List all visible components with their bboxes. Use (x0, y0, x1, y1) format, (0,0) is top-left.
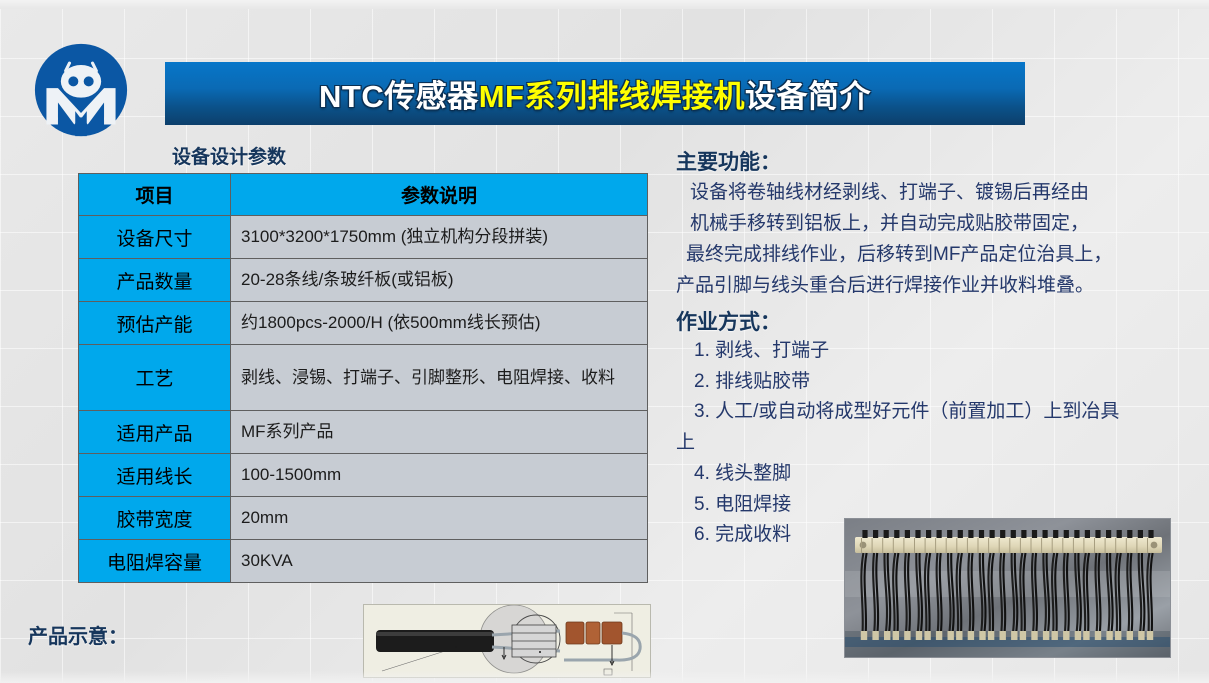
row-value: 100-1500mm (231, 454, 648, 497)
workflow-step: 1. 剥线、打端子 (676, 336, 1201, 367)
row-value: 30KVA (231, 540, 648, 583)
table-header-item: 项目 (79, 174, 231, 216)
row-value: 约1800pcs-2000/H (依500mm线长预估) (231, 302, 648, 345)
title-part-1: NTC传感器 (319, 79, 479, 114)
table-row: 适用线长 100-1500mm (79, 454, 648, 497)
row-key: 适用线长 (79, 454, 231, 497)
table-row: 胶带宽度 20mm (79, 497, 648, 540)
main-functions-title: 主要功能： (676, 146, 1201, 176)
table-row: 产品数量 20-28条线/条玻纤板(或铝板) (79, 259, 648, 302)
table-row: 适用产品 MF系列产品 (79, 411, 648, 454)
table-row: 工艺 剥线、浸锡、打端子、引脚整形、电阻焊接、收料 (79, 345, 648, 411)
table-row: 设备尺寸 3100*3200*1750mm (独立机构分段拼装) (79, 216, 648, 259)
row-value: 20-28条线/条玻纤板(或铝板) (231, 259, 648, 302)
table-header-row: 项目 参数说明 (79, 174, 648, 216)
workflow-step: 3. 人工/或自动将成型好元件（前置加工）上到冶具 (676, 397, 1201, 428)
table-row: 电阻焊容量 30KVA (79, 540, 648, 583)
robot-m-icon (33, 42, 129, 138)
workflow-step-continuation: 上 (676, 428, 1201, 459)
product-illustration-label: 产品示意： (28, 620, 128, 649)
workflow-step: 2. 排线贴胶带 (676, 367, 1201, 398)
row-value: 剥线、浸锡、打端子、引脚整形、电阻焊接、收料 (231, 345, 648, 411)
slide-canvas: NTC传感器MF系列排线焊接机设备简介 设备设计参数 项目 参数说明 设备尺寸 … (0, 0, 1209, 683)
row-value: 20mm (231, 497, 648, 540)
cad-drawing-graphic (364, 605, 651, 678)
row-key: 设备尺寸 (79, 216, 231, 259)
right-description-column: 主要功能： 设备将卷轴线材经剥线、打端子、镀锡后再经由 机械手移转到铝板上，并自… (676, 146, 1201, 551)
table-row: 预估产能 约1800pcs-2000/H (依500mm线长预估) (79, 302, 648, 345)
table-header-spec: 参数说明 (231, 174, 648, 216)
row-value: MF系列产品 (231, 411, 648, 454)
slide-title-banner: NTC传感器MF系列排线焊接机设备简介 (165, 62, 1025, 125)
row-key: 适用产品 (79, 411, 231, 454)
workflow-step: 4. 线头整脚 (676, 459, 1201, 490)
row-key: 胶带宽度 (79, 497, 231, 540)
row-key: 预估产能 (79, 302, 231, 345)
row-key: 工艺 (79, 345, 231, 411)
page-title: NTC传感器MF系列排线焊接机设备简介 (319, 71, 871, 116)
workflow-step: 5. 电阻焊接 (676, 490, 1201, 521)
row-key: 电阻焊容量 (79, 540, 231, 583)
harness-photo-graphic (845, 519, 1171, 658)
workflow-title: 作业方式： (676, 306, 1201, 336)
title-highlight: MF系列排线焊接机 (479, 79, 745, 114)
main-functions-line: 设备将卷轴线材经剥线、打端子、镀锡后再经由 (676, 178, 1201, 209)
company-robot-logo (33, 42, 129, 138)
row-value: 3100*3200*1750mm (独立机构分段拼装) (231, 216, 648, 259)
title-part-2: 设备简介 (745, 79, 871, 114)
main-functions-line: 机械手移转到铝板上，并自动完成贴胶带固定， (676, 209, 1201, 240)
row-key: 产品数量 (79, 259, 231, 302)
main-functions-line: 产品引脚与线头重合后进行焊接作业并收料堆叠。 (676, 271, 1201, 302)
equipment-parameters-table: 项目 参数说明 设备尺寸 3100*3200*1750mm (独立机构分段拼装)… (78, 173, 648, 583)
main-functions-line: 最终完成排线作业，后移转到MF产品定位治具上， (676, 240, 1201, 271)
ntc-sensor-cad-image (363, 604, 651, 678)
wire-harness-photo (844, 518, 1171, 658)
params-section-heading: 设备设计参数 (172, 142, 286, 169)
